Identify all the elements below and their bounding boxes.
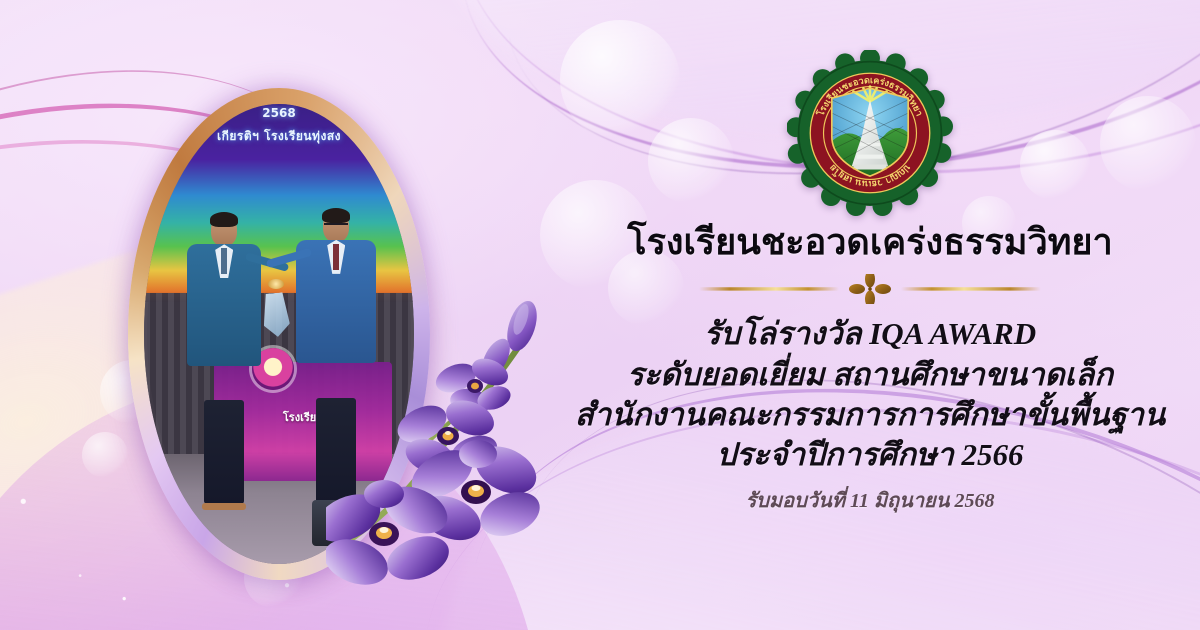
hair <box>210 212 238 227</box>
award-line: สำนักงานคณะกรรมการการศึกษาขั้นพื้นฐาน <box>575 395 1165 435</box>
trophy-crest-icon <box>268 279 284 289</box>
award-date: รับมอบวันที่ 11 มิถุนายน 2568 <box>575 484 1165 516</box>
page-title: โรงเรียนชะอวดเคร่งธรรมวิทยา <box>627 222 1113 262</box>
necktie <box>221 248 227 274</box>
award-line: ระดับยอดเยี่ยม สถานศึกษาขนาดเล็ก <box>575 355 1165 395</box>
award-line: รับโล่รางวัล IQA AWARD <box>575 314 1165 354</box>
award-line: ประจำปีการศึกษา 2566 <box>575 435 1165 475</box>
bokeh-circle <box>82 432 128 478</box>
necktie <box>333 244 339 270</box>
led-caption-text: เกียรติฯ โรงเรียนทุ่งสง <box>144 127 414 146</box>
led-year-text: 2568 <box>144 106 414 120</box>
award-description: รับโล่รางวัล IQA AWARD ระดับยอดเยี่ยม สถ… <box>575 314 1165 515</box>
school-crest-icon: โรงเรียนชะอวดเคร่งธรรมวิทยา ปญฺญา วธเนน … <box>787 50 953 216</box>
person-presenter <box>187 214 261 504</box>
trousers <box>204 400 244 504</box>
shoes <box>202 503 246 510</box>
hair <box>322 208 350 223</box>
banner-canvas: 2568 เกียรติฯ โรงเรียนทุ่งสง โรงเรียน <box>0 0 1200 630</box>
glasses-icon <box>324 223 348 232</box>
banner-content: โรงเรียนชะอวดเคร่งธรรมวิทยา ปญฺญา วธเนน … <box>560 42 1180 588</box>
gold-flourish-divider-icon <box>687 274 1053 304</box>
orchid-decoration <box>326 296 556 596</box>
